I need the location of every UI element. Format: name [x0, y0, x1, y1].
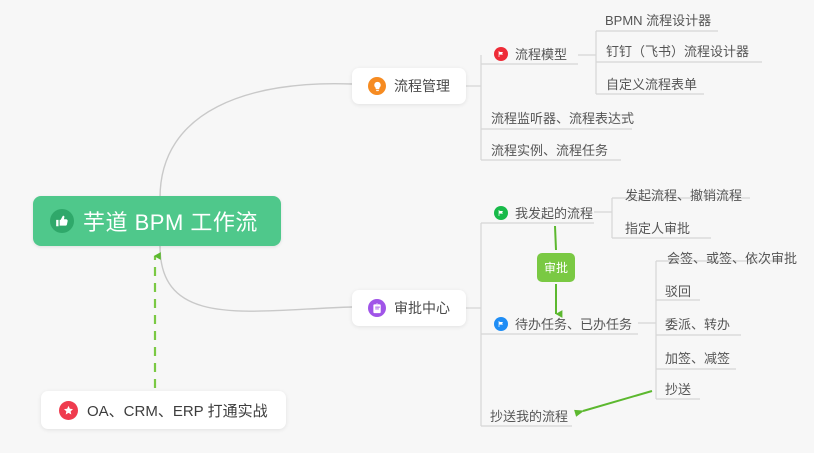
root-label: 芋道 BPM 工作流 — [83, 205, 258, 237]
approval-callout-box[interactable]: 审批 — [537, 253, 575, 282]
leaf-label-assignee-approval: 指定人审批 — [625, 222, 690, 235]
leaf-add-remove-sign[interactable]: 加签、减签 — [665, 352, 730, 365]
leaf-reject[interactable]: 驳回 — [665, 285, 691, 298]
lightbulb-icon — [368, 77, 386, 95]
leaf-label-add-remove-sign: 加签、减签 — [665, 352, 730, 365]
leaf-countersign-orsign-sequential[interactable]: 会签、或签、依次审批 — [667, 252, 797, 265]
leaf-delegate-transfer[interactable]: 委派、转办 — [665, 318, 730, 331]
leaf-label-start-cancel-process: 发起流程、撤销流程 — [625, 189, 742, 202]
leaf-process-instance-task[interactable]: 流程实例、流程任务 — [491, 144, 608, 157]
mindmap-canvas: 芋道 BPM 工作流 流程管理 审批中心 流程模型 流程监听器、流程表达式 — [0, 0, 814, 453]
leaf-start-cancel-process[interactable]: 发起流程、撤销流程 — [625, 189, 742, 202]
flag-blue-icon — [494, 317, 508, 331]
leaf-label-reject: 驳回 — [665, 285, 691, 298]
approval-callout-label: 审批 — [544, 259, 568, 276]
leaf-label-countersign-orsign-sequential: 会签、或签、依次审批 — [667, 252, 797, 265]
leaf-dingtalk-feishu-designer[interactable]: 钉钉（飞书）流程设计器 — [606, 45, 749, 58]
branch-node-process-management[interactable]: 流程管理 — [352, 68, 466, 104]
clipboard-icon — [368, 299, 386, 317]
leaf-cc[interactable]: 抄送 — [665, 383, 691, 396]
leaf-my-initiated-process[interactable]: 我发起的流程 — [494, 206, 593, 220]
star-icon — [59, 401, 78, 420]
leaf-label-process-model: 流程模型 — [515, 48, 567, 61]
leaf-label-custom-process-form: 自定义流程表单 — [606, 78, 697, 91]
leaf-process-listener-expression[interactable]: 流程监听器、流程表达式 — [491, 112, 634, 125]
branch-label-process-management: 流程管理 — [394, 76, 450, 96]
leaf-label-cc: 抄送 — [665, 383, 691, 396]
branch-node-approval-center[interactable]: 审批中心 — [352, 290, 466, 326]
leaf-label-my-initiated-process: 我发起的流程 — [515, 207, 593, 220]
flag-red-icon — [494, 47, 508, 61]
leaf-label-todo-done-tasks: 待办任务、已办任务 — [515, 318, 632, 331]
leaf-label-process-instance-task: 流程实例、流程任务 — [491, 144, 608, 157]
link-root-to-approval-center — [160, 246, 352, 311]
leaf-label-delegate-transfer: 委派、转办 — [665, 318, 730, 331]
leaf-custom-process-form[interactable]: 自定义流程表单 — [606, 78, 697, 91]
leaf-label-bpmn-designer: BPMN 流程设计器 — [605, 14, 711, 27]
leaf-label-cc-to-me-process: 抄送我的流程 — [490, 410, 568, 423]
arrow-initiated-to-approval — [555, 226, 556, 250]
leaf-bpmn-designer[interactable]: BPMN 流程设计器 — [605, 14, 711, 27]
leaf-assignee-approval[interactable]: 指定人审批 — [625, 222, 690, 235]
floating-node-integration-practice[interactable]: OA、CRM、ERP 打通实战 — [41, 391, 286, 429]
arrow-cc-to-cc-process — [583, 391, 652, 411]
leaf-label-process-listener-expression: 流程监听器、流程表达式 — [491, 112, 634, 125]
link-root-to-process-management — [160, 84, 352, 198]
floating-node-label-integration-practice: OA、CRM、ERP 打通实战 — [87, 400, 268, 421]
leaf-cc-to-me-process[interactable]: 抄送我的流程 — [490, 410, 568, 423]
leaf-process-model[interactable]: 流程模型 — [494, 47, 567, 61]
branch-label-approval-center: 审批中心 — [394, 298, 450, 318]
flag-green-icon — [494, 206, 508, 220]
root-node[interactable]: 芋道 BPM 工作流 — [33, 196, 281, 246]
leaf-todo-done-tasks[interactable]: 待办任务、已办任务 — [494, 317, 632, 331]
thumbs-up-icon — [50, 209, 74, 233]
leaf-label-dingtalk-feishu-designer: 钉钉（飞书）流程设计器 — [606, 45, 749, 58]
